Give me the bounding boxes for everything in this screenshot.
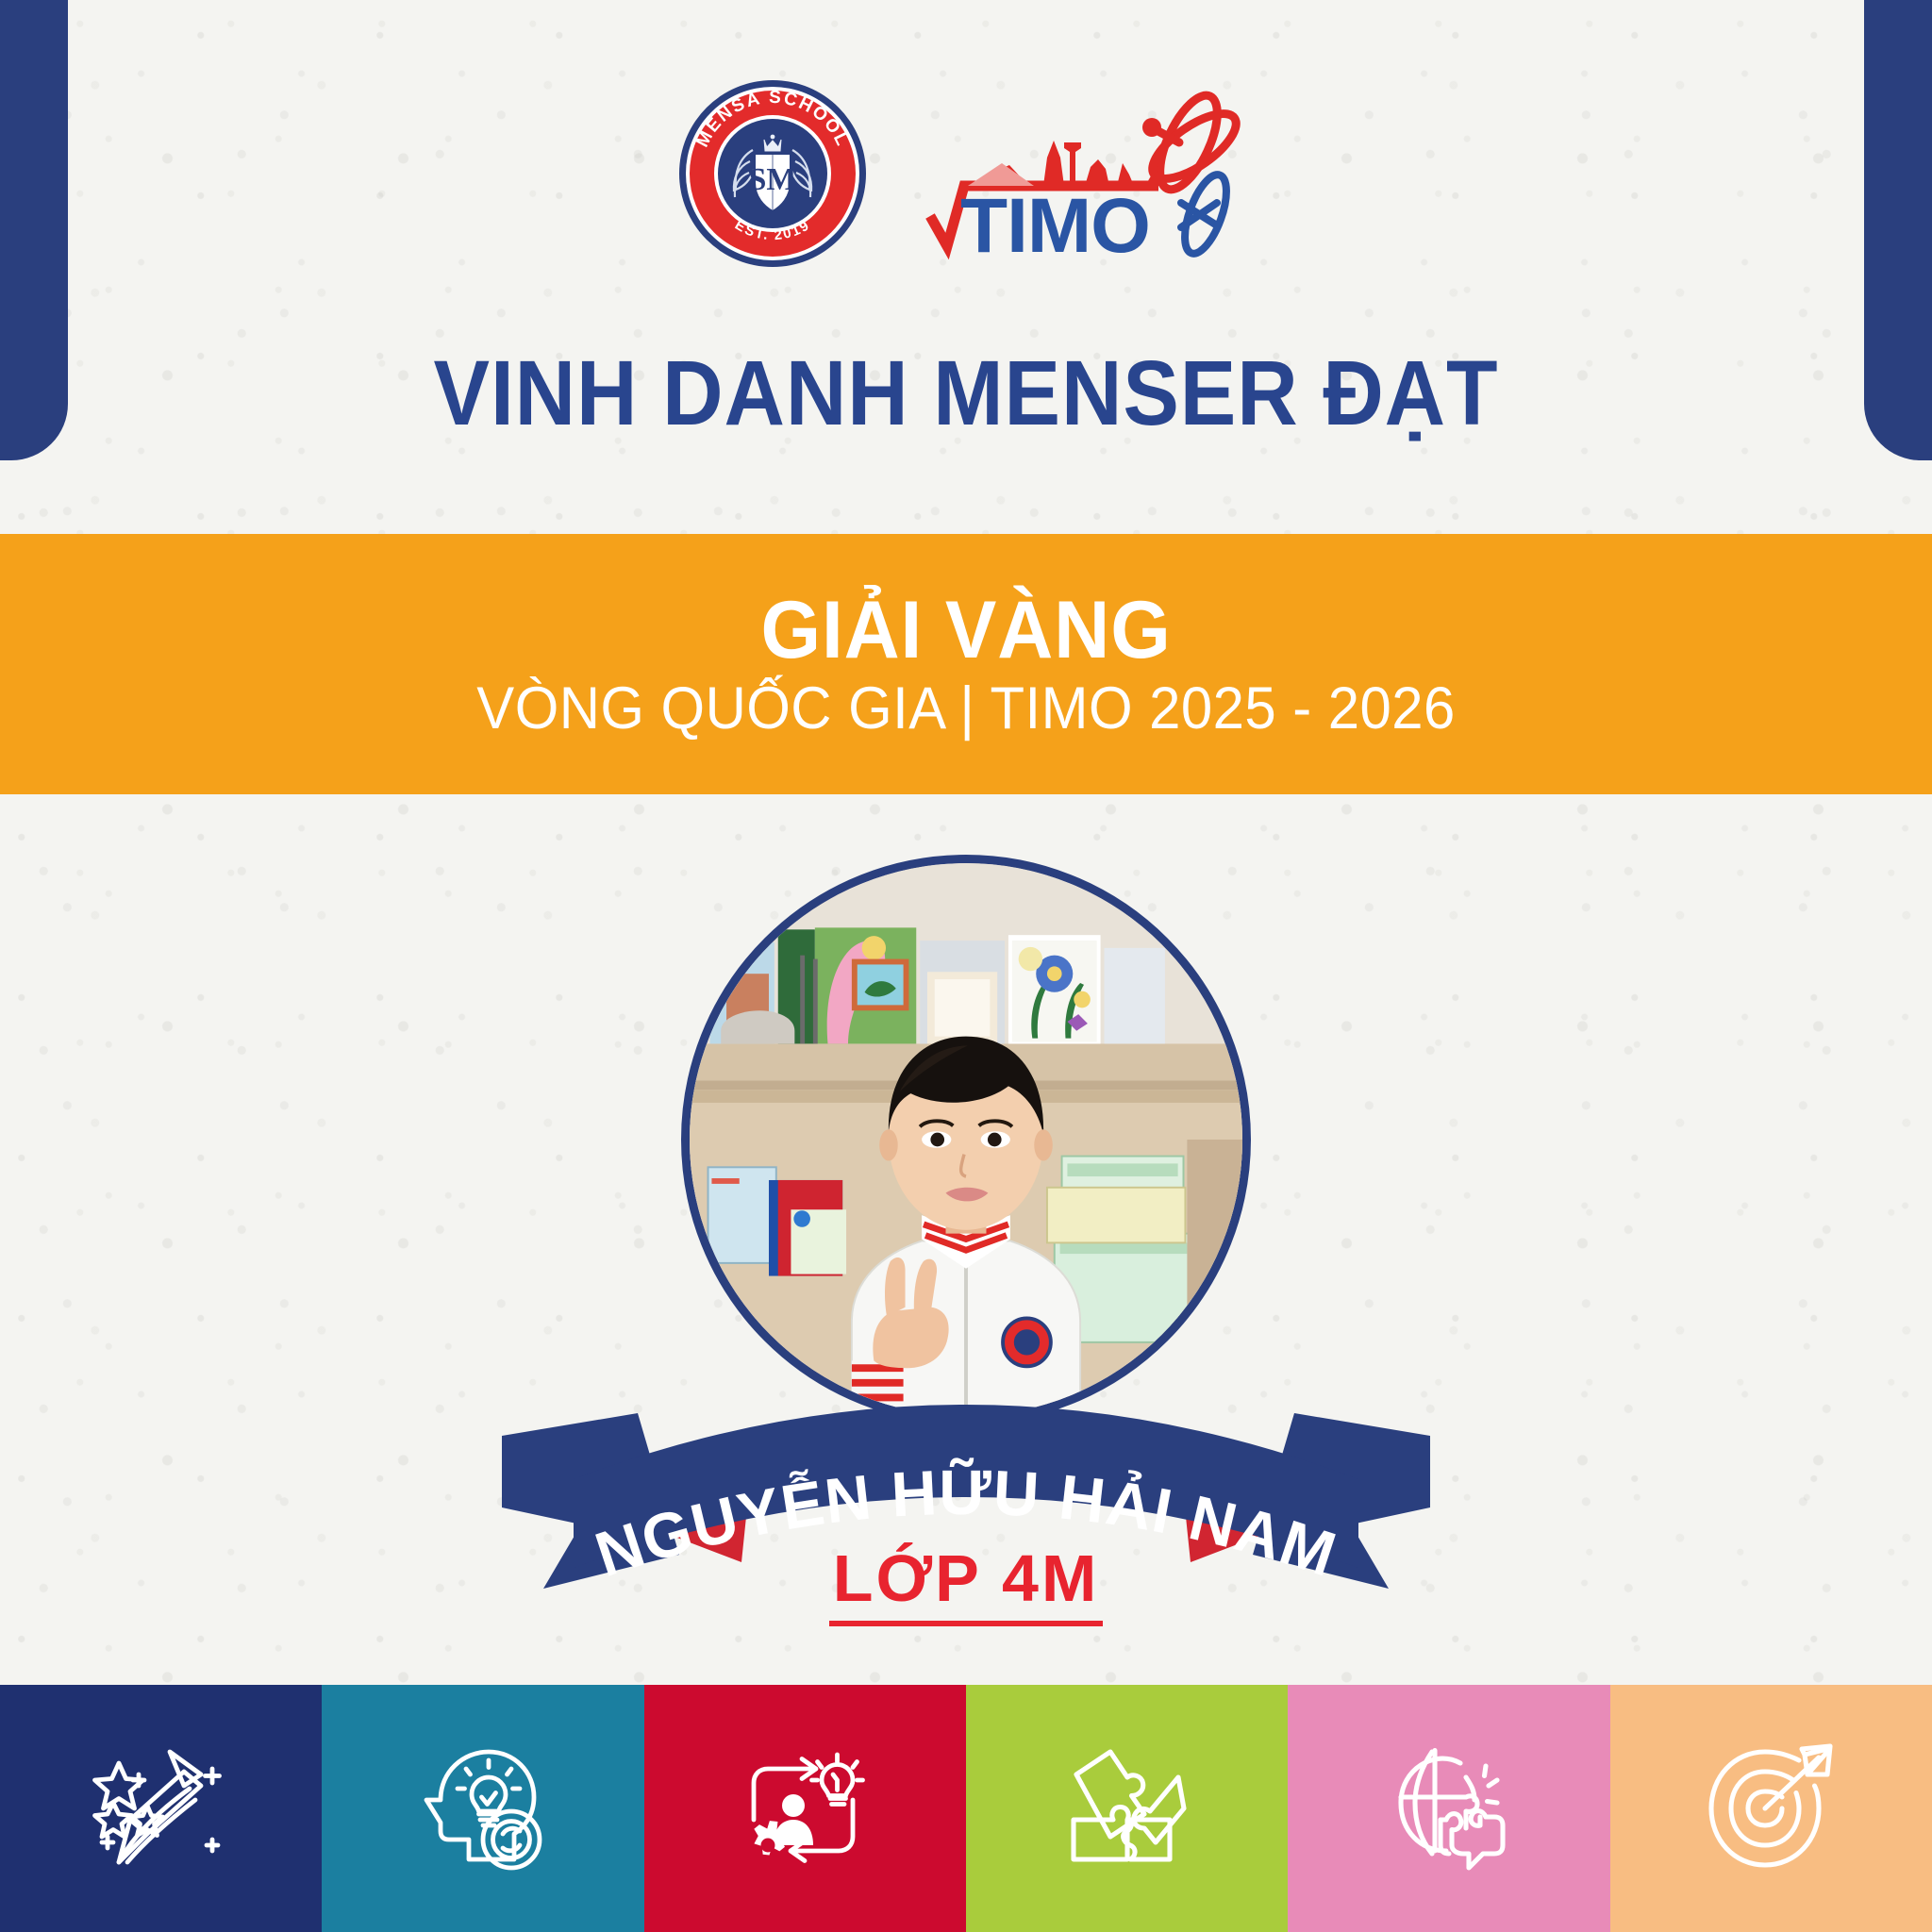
- seal-arc-text-group: MENSA SCHOOL EST. 2019: [679, 80, 866, 267]
- icon-cell-critical-thinking: [322, 1685, 643, 1932]
- award-medal-label: GIẢI VÀNG: [760, 589, 1171, 673]
- icon-cell-problem-solving: [644, 1685, 966, 1932]
- award-banner: GIẢI VÀNG VÒNG QUỐC GIA | TIMO 2025 - 20…: [0, 534, 1932, 794]
- mensa-school-seal-icon: MENSA SCHOOL EST. 2019: [679, 80, 866, 267]
- crown-icon: [764, 135, 781, 151]
- student-portrait: [681, 855, 1251, 1424]
- student-class-label: LỚP 4M: [829, 1541, 1104, 1626]
- goal-target-arrow-icon: [1700, 1738, 1841, 1879]
- logo-row: MENSA SCHOOL EST. 2019: [0, 79, 1932, 268]
- icon-cell-goal-target: [1610, 1685, 1932, 1932]
- problem-solving-icon: [734, 1738, 875, 1879]
- timo-logo-icon: TIMO: [923, 84, 1253, 263]
- seal-bottom-text: EST. 2019: [732, 217, 813, 243]
- name-ribbon: NGUYỄN HỮU HẢI NAM LỚP 4M: [494, 1366, 1438, 1640]
- award-poster: MENSA SCHOOL EST. 2019: [0, 0, 1932, 1932]
- icon-cell-creativity: [0, 1685, 322, 1932]
- award-round-label: VÒNG QUỐC GIA | TIMO 2025 - 2026: [476, 677, 1455, 740]
- collaboration-puzzle-icon: [1057, 1738, 1198, 1879]
- timo-wordmark: TIMO: [960, 183, 1150, 263]
- critical-thinking-head-bulb-gear-icon: [412, 1738, 554, 1879]
- page-title: VINH DANH MENSER ĐẠT: [77, 347, 1855, 439]
- student-class: LỚP 4M: [494, 1541, 1438, 1616]
- shield-monogram: SM: [749, 162, 797, 197]
- bottom-icon-strip: [0, 1685, 1932, 1932]
- creativity-pen-stars-icon: [91, 1738, 232, 1879]
- icon-cell-collaboration: [966, 1685, 1288, 1932]
- atom-node-icon: [1142, 118, 1161, 137]
- communication-globe-speech-icon: [1378, 1738, 1520, 1879]
- icon-cell-communication: [1288, 1685, 1609, 1932]
- portrait-scene: [690, 863, 1242, 1416]
